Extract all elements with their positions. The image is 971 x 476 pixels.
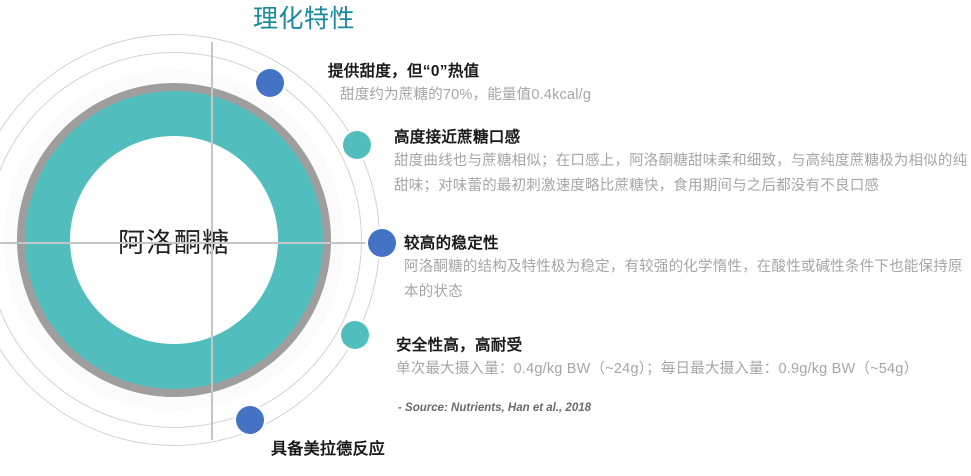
source-citation: - Source: Nutrients, Han et al., 2018: [398, 402, 591, 414]
feature-title-1: 提供甜度，但“0”热值: [328, 61, 658, 83]
bottom-feature-label: 具备美拉德反应: [271, 435, 385, 459]
page-title: 理化特性: [253, 2, 355, 36]
connector-dot-4[interactable]: [341, 321, 369, 349]
feature-title-2: 高度接近蔗糖口感: [394, 127, 971, 149]
feature-body-4: 单次最大摄入量：0.4g/kg BW（~24g）；每日最大摄入量：0.9g/kg…: [396, 357, 971, 382]
feature-body-2: 甜度曲线也与蔗糖相似；在口感上，阿洛酮糖甜味柔和细致，与高纯度蔗糖极为相似的纯甜…: [394, 149, 971, 199]
feature-block-2: 高度接近蔗糖口感 甜度曲线也与蔗糖相似；在口感上，阿洛酮糖甜味柔和细致，与高纯度…: [394, 127, 971, 199]
connector-dot-1[interactable]: [256, 69, 284, 97]
crosshair-horizontal-line: [0, 242, 382, 244]
feature-body-1: 甜度约为蔗糖的70%，能量值0.4kcal/g: [340, 83, 658, 108]
slide-canvas: 理化特性 阿洛酮糖 提供甜度，但“0”热值 甜度约为蔗糖的70%，能量值0.4k…: [0, 0, 971, 476]
feature-body-3: 阿洛酮糖的结构及特性极为稳定，有较强的化学惰性，在酸性或碱性条件下也能保持原本的…: [404, 255, 971, 305]
donut-center-label: 阿洛酮糖: [70, 136, 278, 344]
feature-block-4: 安全性高，高耐受 单次最大摄入量：0.4g/kg BW（~24g）；每日最大摄入…: [396, 335, 971, 382]
feature-block-1: 提供甜度，但“0”热值 甜度约为蔗糖的70%，能量值0.4kcal/g: [328, 61, 658, 108]
connector-dot-5[interactable]: [236, 406, 264, 434]
connector-dot-2[interactable]: [343, 131, 371, 159]
feature-title-4: 安全性高，高耐受: [396, 335, 971, 357]
feature-block-3: 较高的稳定性 阿洛酮糖的结构及特性极为稳定，有较强的化学惰性，在酸性或碱性条件下…: [404, 233, 971, 305]
connector-dot-3[interactable]: [368, 229, 396, 257]
feature-title-3: 较高的稳定性: [404, 233, 971, 255]
crosshair-vertical-line: [211, 42, 213, 440]
